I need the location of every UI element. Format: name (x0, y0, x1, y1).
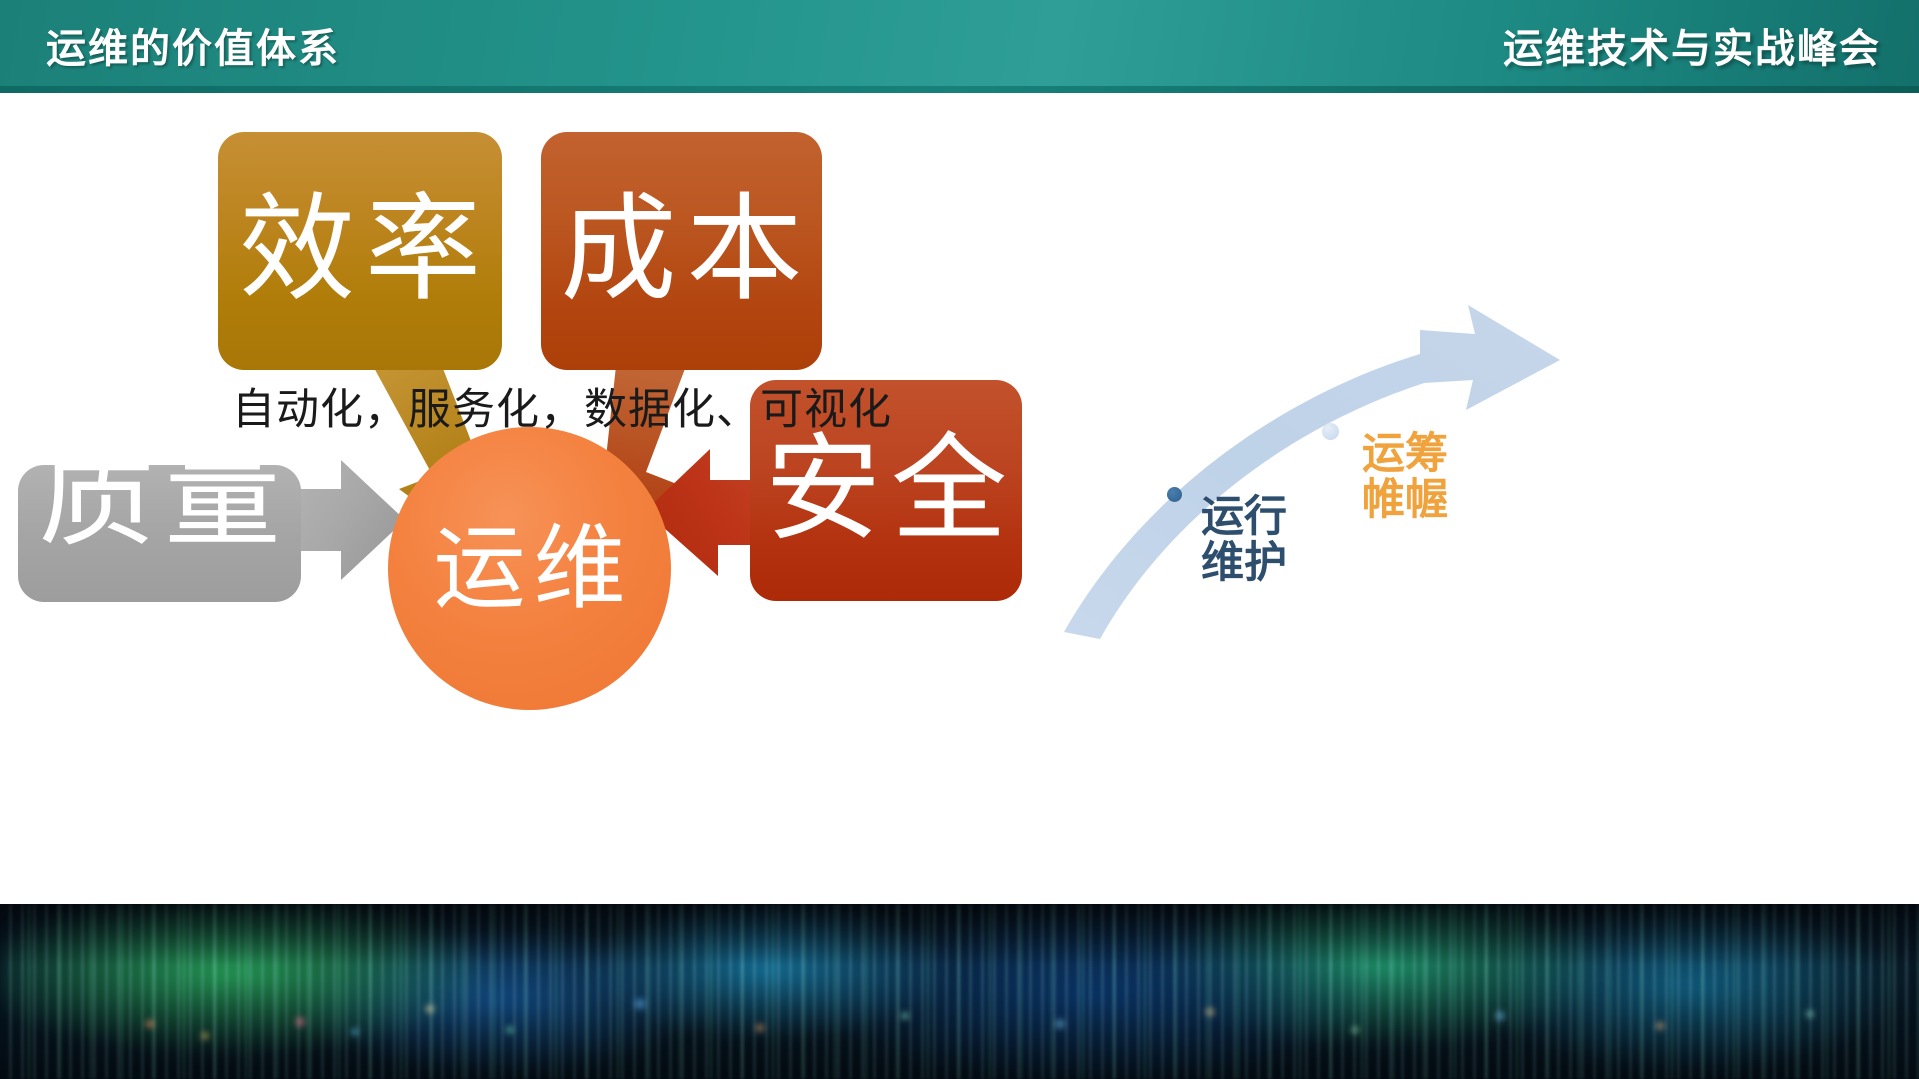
growth-label-operate: 运行 维护 (1184, 495, 1304, 588)
footer-photo-vignette (0, 904, 1919, 1079)
pillar-label-cost: 成本 (551, 193, 813, 309)
growth-marker-operate-icon (1167, 487, 1182, 502)
growth-label-operate-line2: 维护 (1184, 541, 1304, 587)
pillar-label-quality: 质量 (29, 439, 291, 555)
core-circle-label: 运维 (425, 523, 633, 615)
pillar-box-efficiency[interactable]: 效率 (218, 132, 502, 370)
page-title: 运维的价值体系 (46, 16, 340, 74)
diagram-caption: 自动化，服务化，数据化、可视化 (232, 375, 892, 437)
core-circle-ops[interactable]: 运维 (388, 427, 671, 710)
growth-label-strategy: 运筹 帷幄 (1345, 432, 1465, 525)
growth-label-strategy-line2: 帷幄 (1345, 478, 1465, 524)
slide-root: 运维的价值体系 运维技术与实战峰会 (0, 0, 1919, 1079)
pillar-box-cost[interactable]: 成本 (541, 132, 822, 370)
growth-swoosh-arrow (1064, 305, 1560, 639)
growth-label-strategy-line1: 运筹 (1345, 432, 1465, 478)
growth-marker-strategy-icon (1322, 423, 1339, 440)
pillar-label-efficiency: 效率 (229, 193, 491, 309)
pillar-label-security: 安全 (755, 433, 1017, 549)
header-underline (0, 86, 1919, 93)
growth-label-operate-line1: 运行 (1184, 495, 1304, 541)
pillar-box-quality[interactable]: 质量 (18, 465, 301, 602)
conference-brand: 运维技术与实战峰会 (1503, 16, 1881, 74)
footer-photo-strip (0, 904, 1919, 1079)
